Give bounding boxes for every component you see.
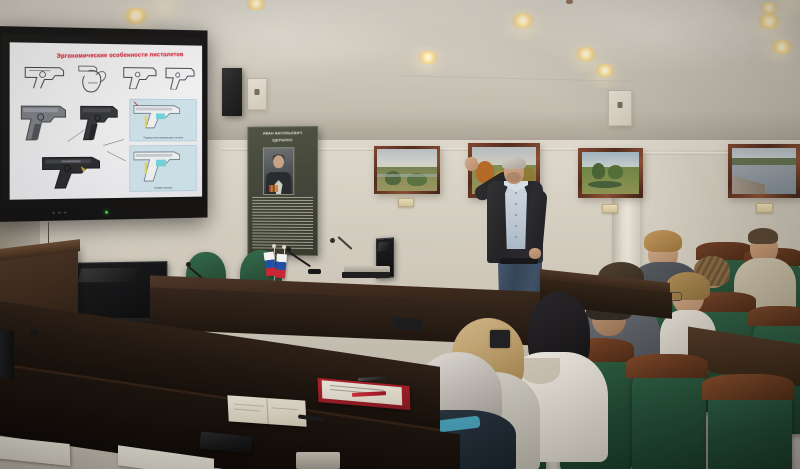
- slide-leader-lines: [66, 112, 141, 171]
- wall-speaker: [222, 68, 242, 116]
- floor-power-outlet[interactable]: [296, 452, 340, 469]
- plaque-portrait: [263, 147, 294, 195]
- audience-blouse-collar: [520, 358, 560, 384]
- microphone-capsule-3: [330, 238, 335, 243]
- display-button-2[interactable]: [58, 212, 61, 214]
- open-notebook[interactable]: [227, 395, 306, 427]
- painting-4-label: [756, 203, 773, 213]
- downlight-6: [508, 13, 538, 28]
- sprinkler-head: [566, 0, 573, 4]
- downlight-12: [768, 40, 796, 54]
- plaque-name-line-1: ИВАН ВАСИЛЬЕВИЧ: [252, 131, 313, 137]
- hand-grip-diagram: [75, 61, 114, 97]
- display-control-buttons[interactable]: [52, 212, 66, 214]
- painting-3-label: [602, 204, 618, 213]
- audience-chair-front-2-frame: [626, 354, 708, 378]
- presenter-lowered-hand: [529, 248, 541, 259]
- microphone-gooseneck-1: [289, 251, 311, 267]
- microphone-base-1: [308, 269, 321, 274]
- plaque-name-line-2: ЩЕРБИНО: [252, 138, 313, 144]
- painting-3-tree: [592, 163, 605, 179]
- panel-switch-icon: [255, 89, 260, 95]
- downlight-11: [757, 2, 781, 14]
- presentation-slide: Эргономические особенности пистолетов: [10, 42, 202, 199]
- portrait-head: [273, 156, 284, 169]
- pistol-outline-1: [23, 58, 69, 88]
- display-button-1[interactable]: [52, 212, 55, 214]
- audience-chair-front-4-frame: [702, 374, 794, 400]
- painting-4: [728, 144, 800, 198]
- presenter-face-shadow: [506, 172, 521, 182]
- display-button-3[interactable]: [64, 212, 67, 214]
- diagram-caption-2: оправки затвора: [130, 186, 196, 190]
- downlight-9: [415, 51, 441, 64]
- painting-3-tree-2: [608, 165, 623, 179]
- presidium-keyboard[interactable]: [342, 272, 390, 278]
- painting-1: [374, 146, 440, 194]
- plaque-biography-text: [252, 197, 313, 251]
- presenter-hair: [502, 157, 526, 169]
- desk-edge-post: [0, 329, 14, 379]
- desk-cable-clip: [30, 330, 38, 338]
- lecture-hall-photo: Эргономические особенности пистолетов: [0, 0, 800, 469]
- panel-switch-icon-2: [618, 102, 623, 108]
- wall-panel-left: [247, 78, 267, 110]
- downlight-10: [754, 14, 784, 29]
- painting-3: [578, 148, 643, 198]
- presenter-shirt-buttons: [515, 192, 517, 244]
- downlight-8: [592, 64, 618, 77]
- portrait-medals: [269, 185, 278, 192]
- painting-3-pond: [588, 181, 622, 188]
- projection-display[interactable]: Эргономические особенности пистолетов: [0, 26, 207, 222]
- audience-hair-light-back: [644, 230, 682, 252]
- painting-1-sky: [377, 149, 437, 169]
- wall-panel-right: [608, 90, 632, 126]
- memorial-plaque: ИВАН ВАСИЛЬЕВИЧ ЩЕРБИНО: [247, 126, 318, 256]
- downlight-7: [572, 47, 600, 61]
- audience-chair-mid-3-frame: [748, 306, 800, 326]
- audience-hair-beige-sweater: [748, 228, 778, 244]
- painting-1-water: [377, 174, 437, 177]
- pistol-outline-2: [122, 60, 161, 89]
- hair-clip: [490, 330, 510, 348]
- painting-1-label: [398, 198, 414, 207]
- pistol-outline-3: [164, 60, 198, 89]
- display-inner-bezel: Эргономические особенности пистолетов: [2, 34, 200, 200]
- power-led-indicator: [105, 211, 108, 214]
